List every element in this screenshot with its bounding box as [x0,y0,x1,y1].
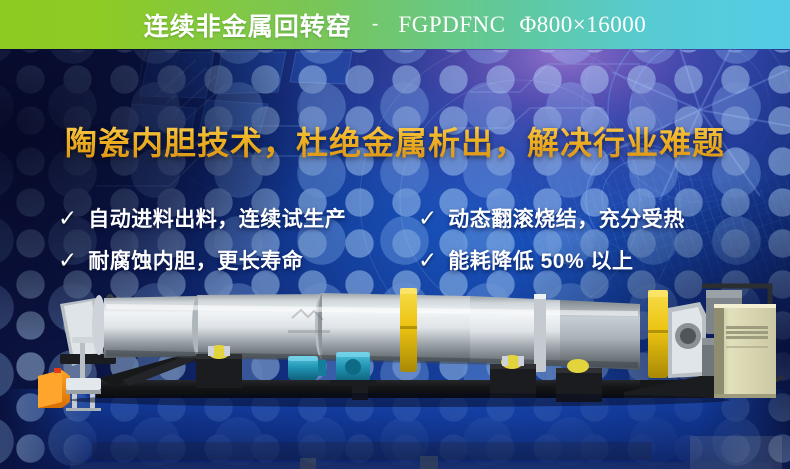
feature-item: ✓ 能耗降低 50% 以上 [418,245,758,275]
feature-item: ✓ 自动进料出料，连续试生产 [58,203,418,233]
rotary-kiln-illustration [0,280,790,469]
check-icon: ✓ [418,249,437,272]
feature-list: ✓ 自动进料出料，连续试生产 ✓ 动态翻滚烧结，充分受热 ✓ 耐腐蚀内胆，更长寿… [58,203,758,275]
feature-label: 耐腐蚀内胆，更长寿命 [88,245,303,275]
riding-ring [648,290,668,378]
feature-item: ✓ 耐腐蚀内胆，更长寿命 [58,245,418,275]
product-photo-area [0,280,790,469]
model-prefix: FGPDFNC [398,12,505,37]
feature-label: 能耗降低 50% 以上 [448,245,633,275]
header-title: 连续非金属回转窑 [144,7,352,43]
feature-item: ✓ 动态翻滚烧结，充分受热 [418,203,758,233]
feature-label: 动态翻滚烧结，充分受热 [448,203,685,233]
banner-stage: 连续非金属回转窑 - FGPDFNCΦ800×16000 陶瓷内胆技术，杜绝金属… [0,0,790,469]
model-spec: Φ800×16000 [519,12,646,37]
headline-text: 陶瓷内胆技术，杜绝金属析出，解决行业难题 [0,118,790,164]
riding-ring [400,288,417,372]
header-bar: 连续非金属回转窑 - FGPDFNCΦ800×16000 [0,0,790,49]
check-icon: ✓ [58,207,77,230]
control-cabinet [714,304,776,398]
header-separator: - [366,13,385,36]
check-icon: ✓ [58,249,77,272]
header-model-code: FGPDFNCΦ800×16000 [398,12,646,38]
feature-label: 自动进料出料，连续试生产 [88,203,346,233]
check-icon: ✓ [418,207,437,230]
